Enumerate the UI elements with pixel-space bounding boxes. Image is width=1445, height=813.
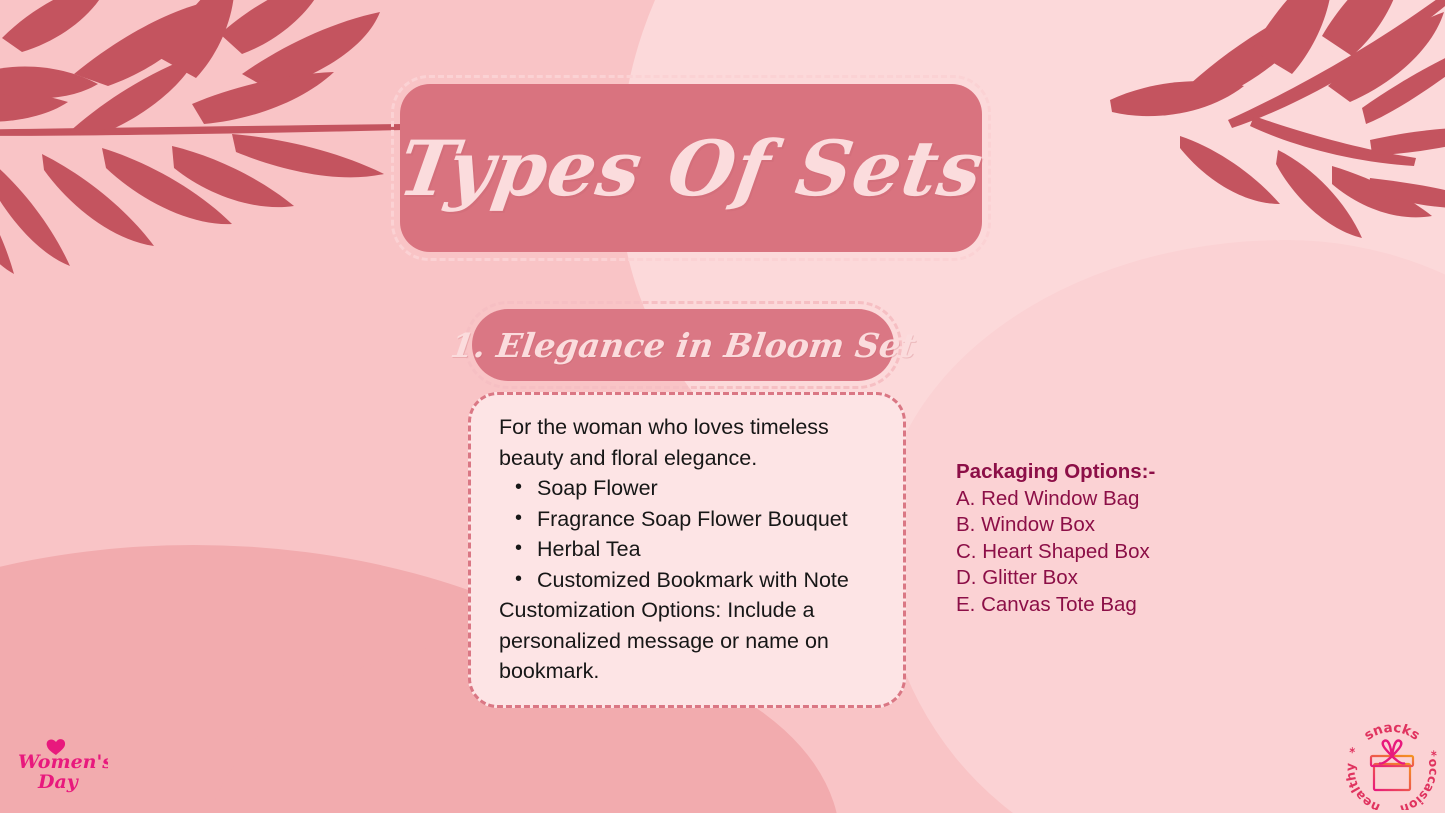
packaging-options-block: Packaging Options:- A. Red Window Bag B.… <box>956 458 1286 618</box>
svg-text:snacks: snacks <box>1361 724 1422 744</box>
packaging-options-heading: Packaging Options:- <box>956 458 1286 485</box>
set-items-list: Soap Flower Fragrance Soap Flower Bouque… <box>499 473 877 595</box>
snacks-occasion-healthy-badge: snacks occasion healthy * * * <box>1342 724 1442 810</box>
list-item: C. Heart Shaped Box <box>956 539 1286 565</box>
set-name-pill: 1. Elegance in Bloom Set <box>472 309 894 381</box>
gift-bow-icon <box>1379 740 1405 763</box>
list-item: Herbal Tea <box>499 534 877 565</box>
list-item: Customized Bookmark with Note <box>499 565 877 596</box>
page-title: Types Of Sets <box>393 124 990 213</box>
gift-box-icon <box>1371 756 1413 790</box>
slide-canvas: Types Of Sets 1. Elegance in Bloom Set F… <box>0 0 1445 813</box>
list-item: B. Window Box <box>956 512 1286 538</box>
list-item: D. Glitter Box <box>956 565 1286 591</box>
list-item: A. Red Window Bag <box>956 486 1286 512</box>
badge-word-snacks: snacks <box>1361 724 1422 744</box>
badge-word-healthy: healthy <box>1342 763 1382 810</box>
set-intro-text: For the woman who loves timeless beauty … <box>499 412 877 473</box>
womens-day-logo-line2: Day <box>37 771 80 793</box>
slide-title-banner: Types Of Sets <box>400 84 982 252</box>
svg-text:healthy: healthy <box>1342 763 1382 810</box>
packaging-options-list: A. Red Window Bag B. Window Box C. Heart… <box>956 486 1286 618</box>
womens-day-logo-line1: Women's <box>18 751 108 773</box>
svg-text:*: * <box>1386 806 1394 810</box>
list-item: E. Canvas Tote Bag <box>956 592 1286 618</box>
list-item: Fragrance Soap Flower Bouquet <box>499 504 877 535</box>
leaf-branch-right-decoration <box>1040 0 1445 282</box>
list-item: Soap Flower <box>499 473 877 504</box>
set-name-label: 1. Elegance in Bloom Set <box>448 326 918 365</box>
womens-day-logo: Women's Day <box>16 736 108 798</box>
set-description-card: For the woman who loves timeless beauty … <box>468 392 906 708</box>
svg-text:*: * <box>1346 744 1362 757</box>
customization-options-text: Customization Options: Include a persona… <box>499 595 877 687</box>
leaf-branch-left-decoration <box>0 0 412 278</box>
